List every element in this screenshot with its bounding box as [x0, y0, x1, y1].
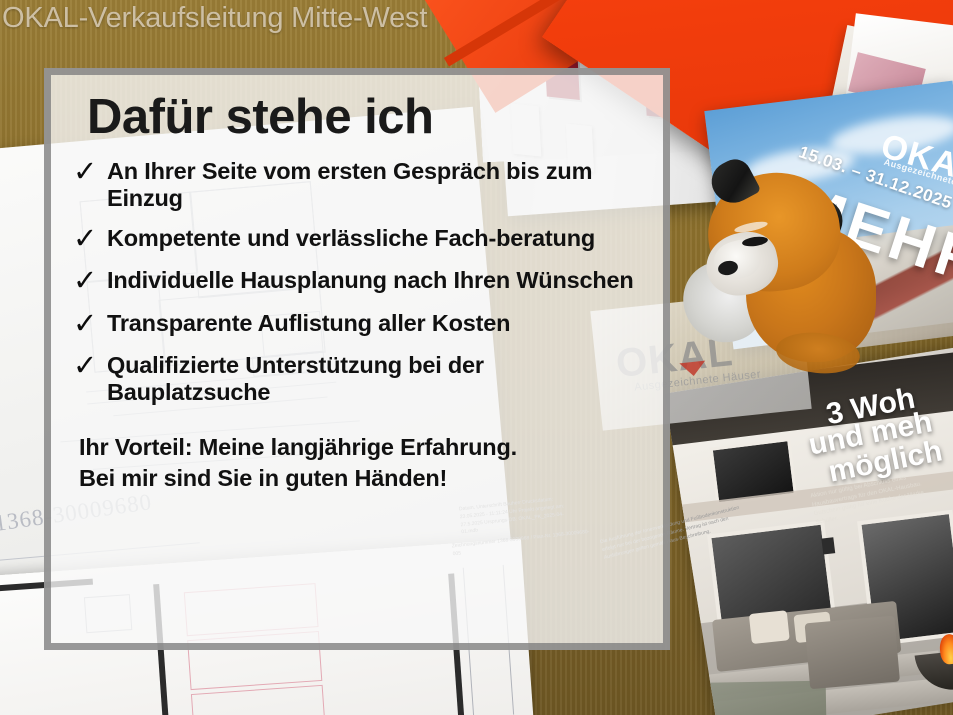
closing-line-2: Bei mir sind Sie in guten Händen! [79, 463, 641, 494]
check-icon: ✓ [73, 267, 107, 297]
photo-cushion-1 [749, 610, 790, 644]
list-item: ✓ An Ihrer Seite vom ersten Gespräch bis… [73, 158, 641, 212]
blueprint-red-room-3 [191, 685, 326, 715]
screenshot-canvas: OKAL Ausgezeichnete Häuser 15.03. – 31.1… [0, 0, 953, 715]
check-icon: ✓ [73, 352, 107, 382]
check-icon: ✓ [73, 310, 107, 340]
list-item: ✓ Individuelle Hausplanung nach Ihren Wü… [73, 267, 641, 297]
list-item-label: Transparente Auflistung aller Kosten [107, 310, 510, 337]
list-item: ✓ Kompetente und verlässliche Fach-berat… [73, 225, 641, 255]
list-item-label: Kompetente und verlässliche Fach-beratun… [107, 225, 595, 252]
fox-plush-figurine [690, 165, 880, 365]
list-item: ✓ Qualifizierte Unterstützung bei der Ba… [73, 352, 641, 406]
closing-statement: Ihr Vorteil: Meine langjährige Erfahrung… [79, 432, 641, 494]
list-item-label: An Ihrer Seite vom ersten Gespräch bis z… [107, 158, 637, 212]
closing-line-1: Ihr Vorteil: Meine langjährige Erfahrung… [79, 432, 641, 463]
card-heading: Dafür stehe ich [87, 93, 641, 142]
photo-lawn [706, 681, 827, 715]
check-icon: ✓ [73, 225, 107, 255]
photo-wall-lamp [821, 537, 835, 554]
list-item-label: Individuelle Hausplanung nach Ihren Wüns… [107, 267, 634, 294]
list-item-label: Qualifizierte Unterstützung bei der Baup… [107, 352, 637, 406]
claims-card: Dafür stehe ich ✓ An Ihrer Seite vom ers… [44, 68, 670, 650]
list-item: ✓ Transparente Auflistung aller Kosten [73, 310, 641, 340]
page-title: OKAL-Verkaufsleitung Mitte-West [2, 2, 427, 35]
check-icon: ✓ [73, 158, 107, 188]
photo-outdoor-chair [805, 616, 900, 690]
